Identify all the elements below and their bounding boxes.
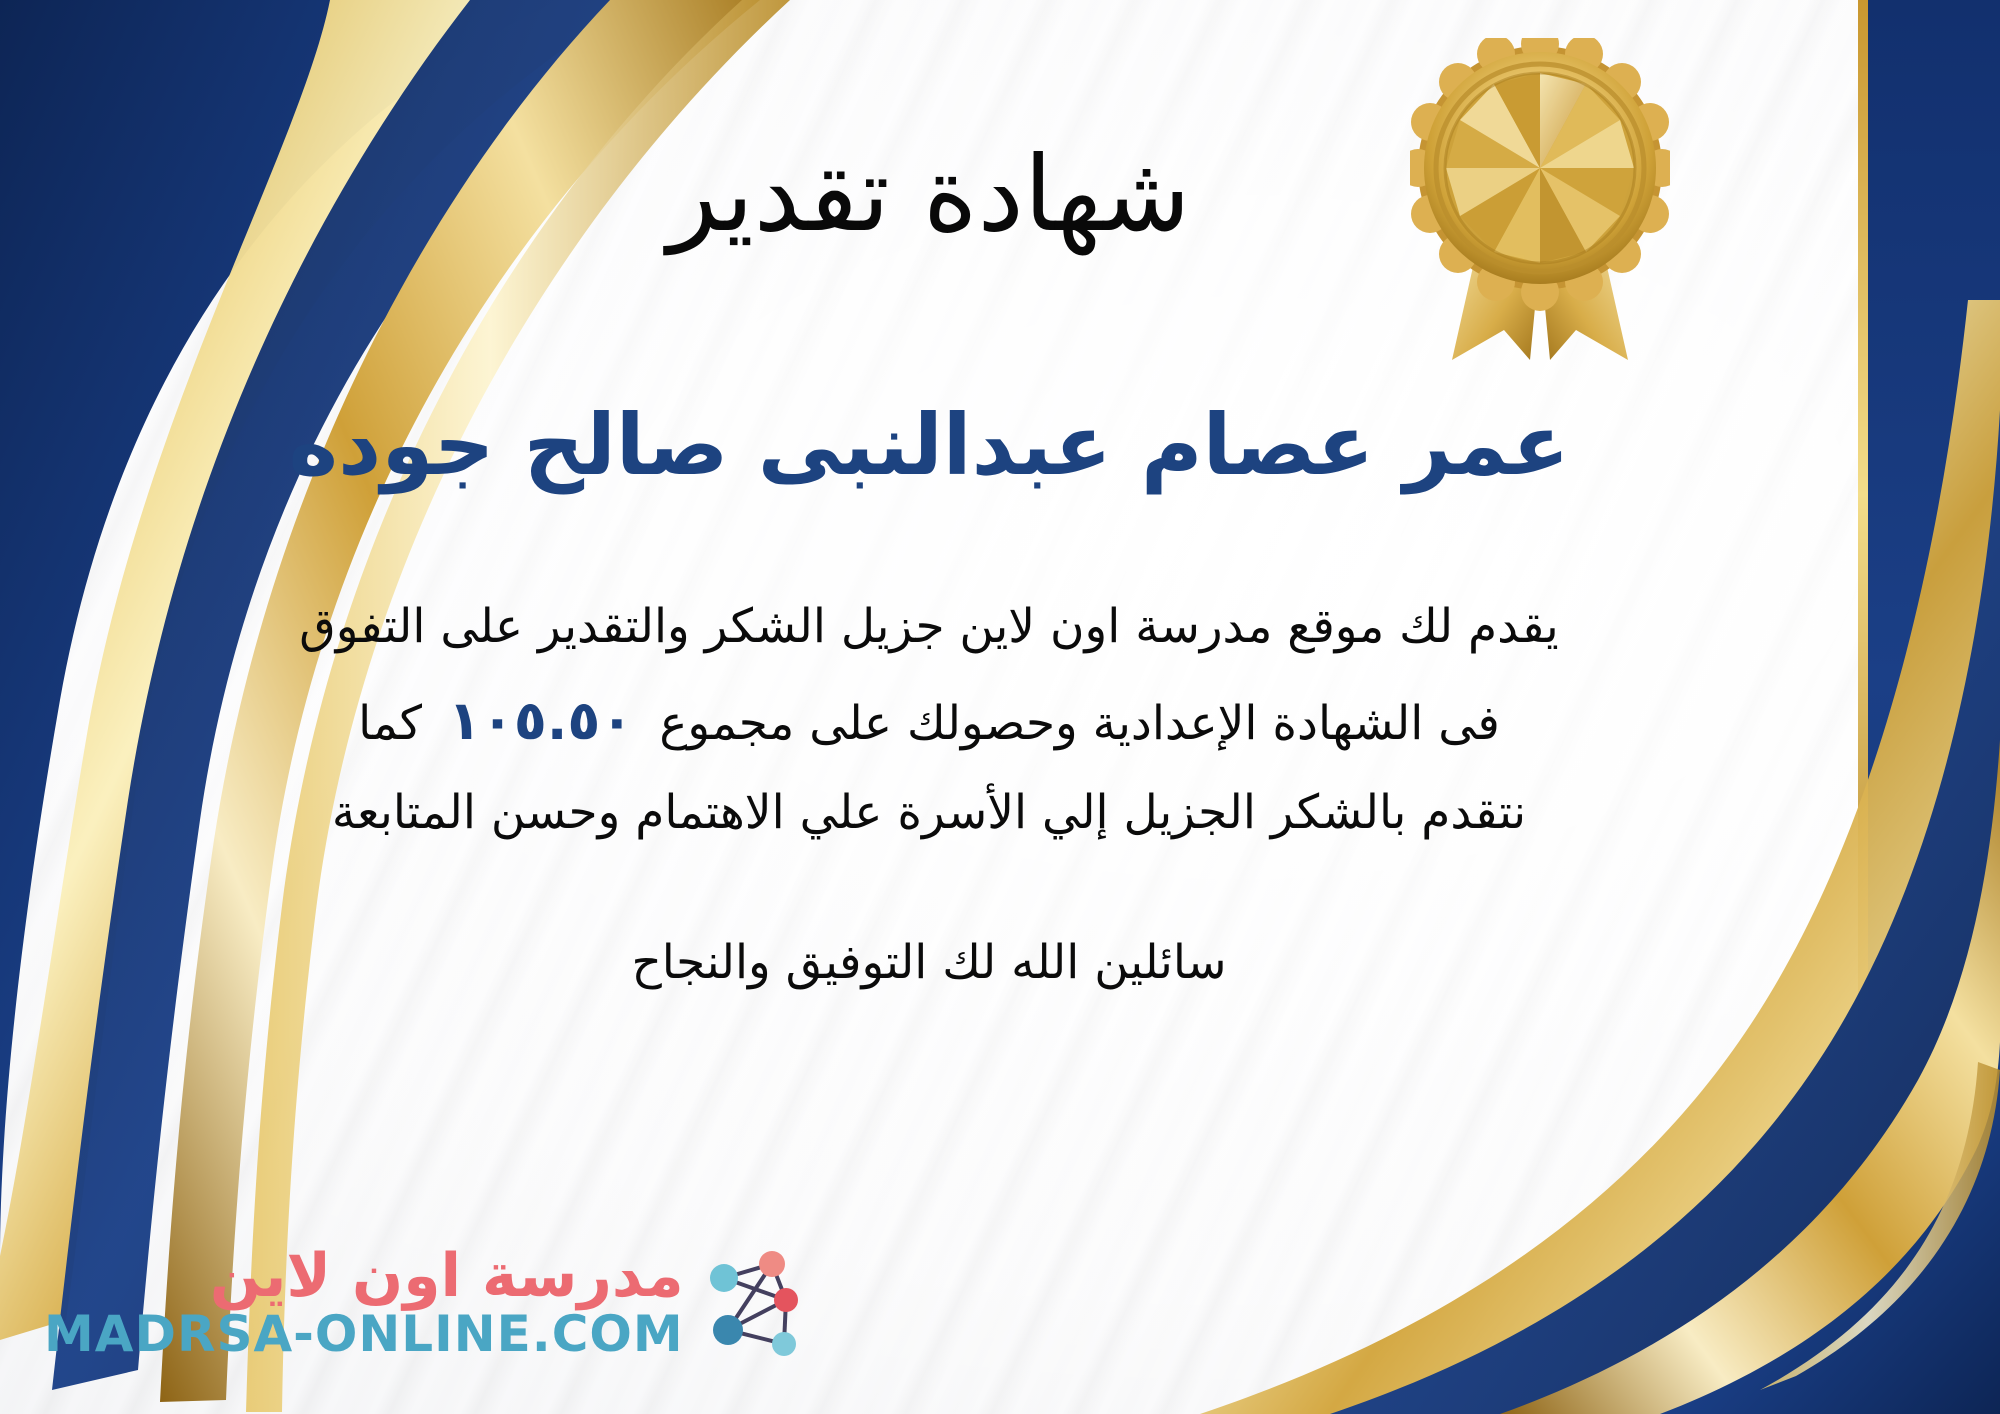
body-line-2: فى الشهادة الإعدادية وحصولك على مجموع١٠٥… (119, 671, 1739, 771)
certificate-page: شهادة تقدير عمر عصام عبدالنبى صالح جوده … (0, 0, 2000, 1414)
body-line-1: يقدم لك موقع مدرسة اون لاين جزيل الشكر و… (119, 584, 1739, 671)
page-title: شهادة تقدير (667, 140, 1190, 249)
brand-logo-text: مدرسة اون لاين MADRSA-ONLINE.COM (44, 1245, 684, 1361)
body-line-2-prefix: فى الشهادة الإعدادية وحصولك على مجموع (659, 696, 1500, 751)
brand-name-arabic: مدرسة اون لاين (210, 1245, 684, 1308)
network-nodes-icon (698, 1244, 816, 1362)
body-line-2-suffix: كما (358, 696, 422, 751)
student-name: عمر عصام عبدالنبى صالح جوده (289, 399, 1570, 491)
certificate-content: شهادة تقدير عمر عصام عبدالنبى صالح جوده … (0, 0, 1858, 1414)
body-line-3: نتقدم بالشكر الجزيل إلي الأسرة علي الاهت… (119, 770, 1739, 857)
brand-logo[interactable]: مدرسة اون لاين MADRSA-ONLINE.COM (44, 1244, 816, 1362)
certificate-body: يقدم لك موقع مدرسة اون لاين جزيل الشكر و… (119, 584, 1739, 858)
brand-domain: MADRSA-ONLINE.COM (44, 1308, 684, 1361)
grade-value: ١٠٥.٥٠ (422, 689, 659, 752)
closing-line: سائلين الله لك التوفيق والنجاح (631, 935, 1226, 990)
